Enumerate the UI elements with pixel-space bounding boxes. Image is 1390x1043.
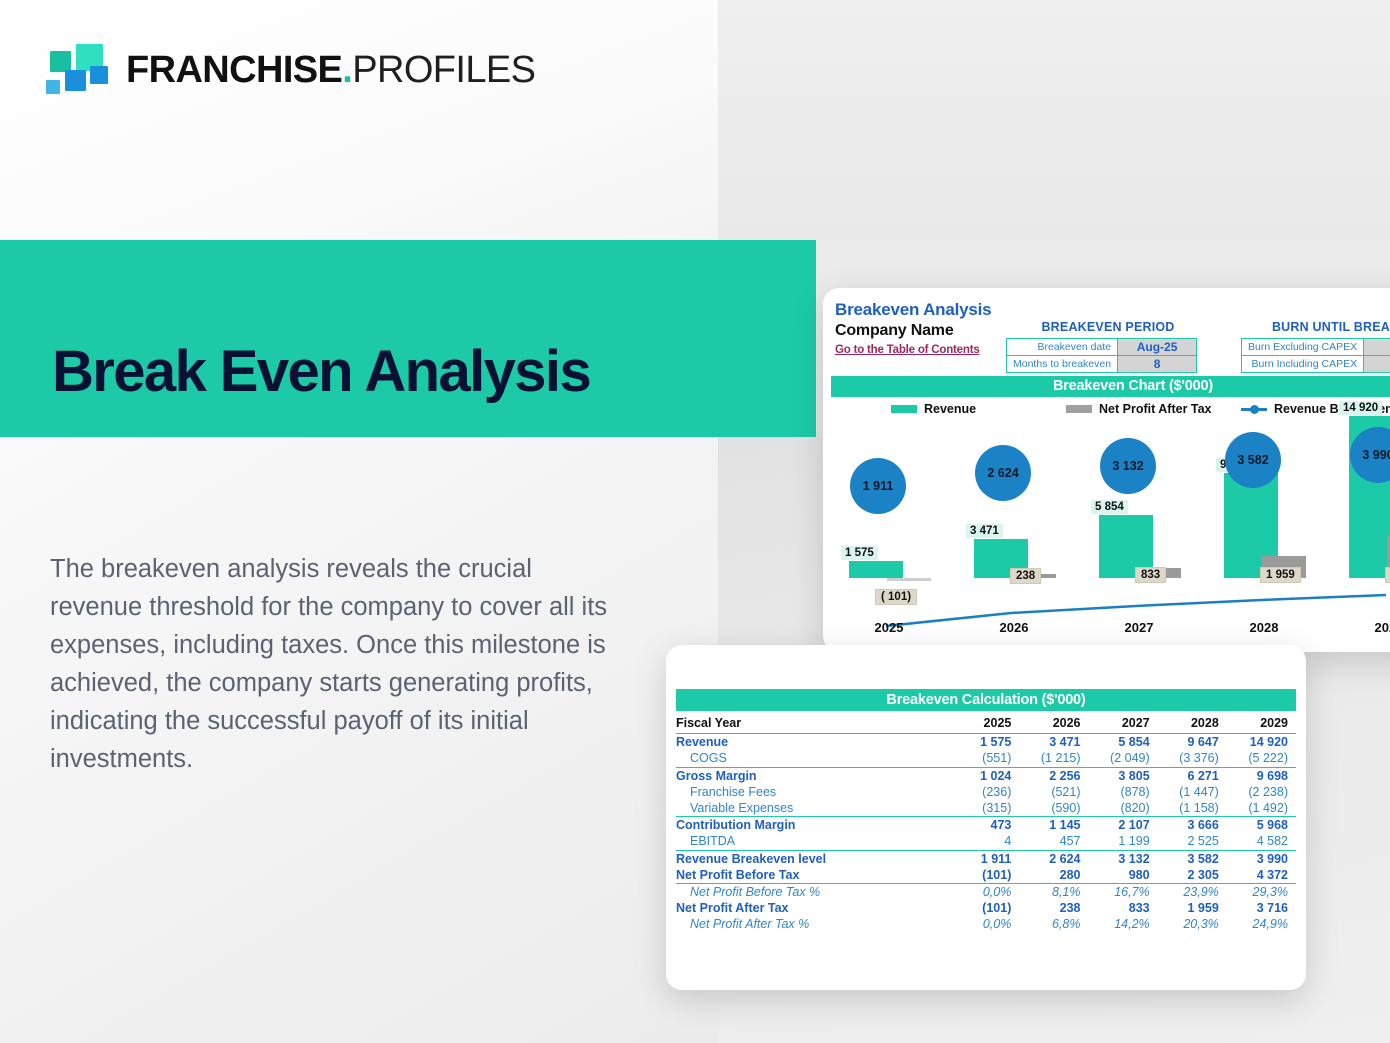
row-label: Revenue Breakeven level xyxy=(676,850,952,867)
table-row: Months to breakeven 8 xyxy=(1007,356,1197,373)
row-label: EBITDA xyxy=(676,833,952,850)
table-cell: 3 582 xyxy=(1158,850,1227,867)
bg-panel-top-left xyxy=(0,0,718,240)
trend-marker-2026: 2 624 xyxy=(975,445,1031,501)
table-cell: (5 222) xyxy=(1227,750,1296,767)
table-cell: 9 698 xyxy=(1227,767,1296,784)
table-row: Gross Margin1 0242 2563 8056 2719 698 xyxy=(676,767,1296,784)
table-cell: 1 024 xyxy=(952,767,1020,784)
breakeven-calculation-card: Breakeven Calculation ($'000) Fiscal Yea… xyxy=(666,645,1306,990)
table-row: Revenue1 5753 4715 8549 64714 920 xyxy=(676,734,1296,751)
table-cell: 2 256 xyxy=(1019,767,1088,784)
breakeven-period-heading: BREAKEVEN PERIOD xyxy=(983,320,1233,334)
row-label: Net Profit Before Tax % xyxy=(676,883,952,900)
table-cell: 473 xyxy=(952,817,1020,834)
table-cell: 280 xyxy=(1019,867,1088,884)
table-row: Burn Including CAPEX xyxy=(1242,356,1390,373)
trend-marker-2025: 1 911 xyxy=(850,458,906,514)
table-cell: 4 372 xyxy=(1227,867,1296,884)
breakeven-date-value[interactable]: Aug-25 xyxy=(1118,339,1197,356)
table-cell: (101) xyxy=(952,900,1020,916)
brand-name-dot: . xyxy=(342,49,352,91)
table-cell: 8,1% xyxy=(1019,883,1088,900)
table-row: Net Profit After Tax %0,0%6,8%14,2%20,3%… xyxy=(676,916,1296,932)
row-label: Revenue xyxy=(676,734,952,751)
company-name: Company Name xyxy=(835,322,954,340)
table-cell: 5 854 xyxy=(1089,734,1158,751)
table-cell: (551) xyxy=(952,750,1020,767)
breakeven-period-table: Breakeven date Aug-25 Months to breakeve… xyxy=(1006,338,1197,373)
col-header-2026: 2026 xyxy=(1019,715,1088,734)
table-cell: 980 xyxy=(1089,867,1158,884)
burn-including-capex-label: Burn Including CAPEX xyxy=(1242,356,1364,373)
table-row: Variable Expenses(315)(590)(820)(1 158)(… xyxy=(676,800,1296,817)
table-row: Breakeven date Aug-25 xyxy=(1007,339,1197,356)
x-tick-2027: 2027 xyxy=(1091,620,1187,635)
table-cell: 238 xyxy=(1019,900,1088,916)
legend-label-npat: Net Profit After Tax xyxy=(1099,402,1212,416)
x-tick-2028: 2028 xyxy=(1216,620,1312,635)
table-cell: 14 920 xyxy=(1227,734,1296,751)
col-header-2025: 2025 xyxy=(952,715,1020,734)
table-cell: (3 376) xyxy=(1158,750,1227,767)
legend-swatch-revenue-icon xyxy=(891,405,917,413)
col-header-2027: 2027 xyxy=(1089,715,1158,734)
chart-plot-area: 1 575 ( 101) 3 471 238 5 854 833 9 xyxy=(831,428,1390,608)
table-cell: 6,8% xyxy=(1019,916,1088,932)
table-cell: 3 132 xyxy=(1089,850,1158,867)
row-label: Net Profit After Tax % xyxy=(676,916,952,932)
table-cell: 16,7% xyxy=(1089,883,1158,900)
burn-excluding-capex-label: Burn Excluding CAPEX xyxy=(1242,339,1364,356)
trend-marker-2028: 3 582 xyxy=(1225,432,1281,488)
table-cell: (1 447) xyxy=(1158,784,1227,800)
legend-swatch-line-icon xyxy=(1241,405,1267,413)
table-cell: 833 xyxy=(1089,900,1158,916)
col-header-fiscal-year: Fiscal Year xyxy=(676,715,952,734)
table-row: EBITDA44571 1992 5254 582 xyxy=(676,833,1296,850)
burn-including-capex-value[interactable] xyxy=(1364,356,1390,373)
chart-x-axis: 2025 2026 2027 2028 2029 xyxy=(831,620,1390,640)
table-row: Revenue Breakeven level1 9112 6243 1323 … xyxy=(676,850,1296,867)
row-label: Franchise Fees xyxy=(676,784,952,800)
x-tick-2026: 2026 xyxy=(966,620,1062,635)
row-label: Contribution Margin xyxy=(676,817,952,834)
table-cell: 4 582 xyxy=(1227,833,1296,850)
table-cell: 23,9% xyxy=(1158,883,1227,900)
table-cell: (101) xyxy=(952,867,1020,884)
table-cell: (820) xyxy=(1089,800,1158,817)
table-cell: (1 158) xyxy=(1158,800,1227,817)
row-label: Gross Margin xyxy=(676,767,952,784)
table-cell: 3 805 xyxy=(1089,767,1158,784)
chart-legend: Revenue Net Profit After Tax Revenue Bre… xyxy=(831,402,1390,420)
legend-label-revenue: Revenue xyxy=(924,402,976,416)
table-cell: 1 911 xyxy=(952,850,1020,867)
brand-logo: FRANCHISE.PROFILES xyxy=(46,44,535,96)
x-tick-2025: 2025 xyxy=(841,620,937,635)
table-cell: (2 238) xyxy=(1227,784,1296,800)
table-row: Net Profit Before Tax(101)2809802 3054 3… xyxy=(676,867,1296,884)
table-cell: 1 145 xyxy=(1019,817,1088,834)
table-cell: 24,9% xyxy=(1227,916,1296,932)
sheet-title: Breakeven Analysis xyxy=(835,300,991,320)
table-row: Contribution Margin4731 1452 1073 6665 9… xyxy=(676,817,1296,834)
col-header-2029: 2029 xyxy=(1227,715,1296,734)
row-label: COGS xyxy=(676,750,952,767)
table-cell: 14,2% xyxy=(1089,916,1158,932)
table-row: Net Profit Before Tax %0,0%8,1%16,7%23,9… xyxy=(676,883,1296,900)
table-cell: 2 107 xyxy=(1089,817,1158,834)
months-to-breakeven-label: Months to breakeven xyxy=(1007,356,1118,373)
table-header-row: Fiscal Year 2025 2026 2027 2028 2029 xyxy=(676,715,1296,734)
row-label: Net Profit After Tax xyxy=(676,900,952,916)
table-cell: 457 xyxy=(1019,833,1088,850)
table-row: Franchise Fees(236)(521)(878)(1 447)(2 2… xyxy=(676,784,1296,800)
table-cell: 1 199 xyxy=(1089,833,1158,850)
bar-label-revenue-2026: 3 471 xyxy=(966,524,1003,538)
table-cell: 3 990 xyxy=(1227,850,1296,867)
legend-item-net-profit-after-tax: Net Profit After Tax xyxy=(1066,402,1212,416)
table-cell: 4 xyxy=(952,833,1020,850)
table-cell: 0,0% xyxy=(952,883,1020,900)
spreadsheet-sheet: Breakeven Analysis Company Name Go to th… xyxy=(823,288,1390,652)
burn-until-breakeven-heading: BURN UNTIL BREAKEVEN xyxy=(1223,320,1390,334)
table-cell: (315) xyxy=(952,800,1020,817)
table-cell: (1 492) xyxy=(1227,800,1296,817)
table-cell: (1 215) xyxy=(1019,750,1088,767)
legend-item-revenue: Revenue xyxy=(891,402,976,416)
table-cell: 3 716 xyxy=(1227,900,1296,916)
table-cell: (521) xyxy=(1019,784,1088,800)
breakeven-date-label: Breakeven date xyxy=(1007,339,1118,356)
col-header-2028: 2028 xyxy=(1158,715,1227,734)
table-cell: 29,3% xyxy=(1227,883,1296,900)
table-cell: 9 647 xyxy=(1158,734,1227,751)
row-label: Net Profit Before Tax xyxy=(676,867,952,884)
chart-banner: Breakeven Chart ($'000) xyxy=(831,376,1390,397)
months-to-breakeven-value[interactable]: 8 xyxy=(1118,356,1197,373)
bar-label-revenue-2025: 1 575 xyxy=(841,546,878,560)
bar-label-revenue-2029: 14 920 xyxy=(1339,401,1382,415)
burn-until-breakeven-table: Burn Excluding CAPEX Burn Including CAPE… xyxy=(1241,338,1390,373)
trend-marker-2027: 3 132 xyxy=(1100,438,1156,494)
bg-panel-top-right xyxy=(718,0,1390,240)
table-cell: 2 525 xyxy=(1158,833,1227,850)
logo-squares-icon xyxy=(46,44,108,96)
breakeven-chart-card: Breakeven Analysis Company Name Go to th… xyxy=(823,288,1390,652)
brand-name-light: PROFILES xyxy=(352,49,535,91)
brand-wordmark: FRANCHISE.PROFILES xyxy=(126,51,535,89)
legend-swatch-npat-icon xyxy=(1066,405,1092,413)
table-cell: 2 624 xyxy=(1019,850,1088,867)
table-cell: 2 305 xyxy=(1158,867,1227,884)
table-cell: 6 271 xyxy=(1158,767,1227,784)
table-cell: (590) xyxy=(1019,800,1088,817)
table-cell: 1 575 xyxy=(952,734,1020,751)
table-cell: 20,3% xyxy=(1158,916,1227,932)
page-title: Break Even Analysis xyxy=(52,343,590,401)
table-cell: (878) xyxy=(1089,784,1158,800)
burn-excluding-capex-value[interactable] xyxy=(1364,339,1390,356)
table-banner: Breakeven Calculation ($'000) xyxy=(676,689,1296,711)
table-cell: 3 471 xyxy=(1019,734,1088,751)
table-row: COGS(551)(1 215)(2 049)(3 376)(5 222) xyxy=(676,750,1296,767)
table-of-contents-link[interactable]: Go to the Table of Contents xyxy=(835,344,980,356)
breakeven-calculation-table: Fiscal Year 2025 2026 2027 2028 2029 Rev… xyxy=(676,715,1296,932)
table-cell: 3 666 xyxy=(1158,817,1227,834)
table-row: Net Profit After Tax(101)2388331 9593 71… xyxy=(676,900,1296,916)
table-cell: 0,0% xyxy=(952,916,1020,932)
table-body: Revenue1 5753 4715 8549 64714 920COGS(55… xyxy=(676,734,1296,933)
hero-description: The breakeven analysis reveals the cruci… xyxy=(50,550,625,778)
table-cell: (2 049) xyxy=(1089,750,1158,767)
row-label: Variable Expenses xyxy=(676,800,952,817)
table-row: Burn Excluding CAPEX xyxy=(1242,339,1390,356)
brand-name-bold: FRANCHISE xyxy=(126,49,342,91)
x-tick-2029: 2029 xyxy=(1341,620,1390,635)
table-cell: (236) xyxy=(952,784,1020,800)
table-cell: 1 959 xyxy=(1158,900,1227,916)
table-cell: 5 968 xyxy=(1227,817,1296,834)
bar-label-revenue-2027: 5 854 xyxy=(1091,500,1128,514)
